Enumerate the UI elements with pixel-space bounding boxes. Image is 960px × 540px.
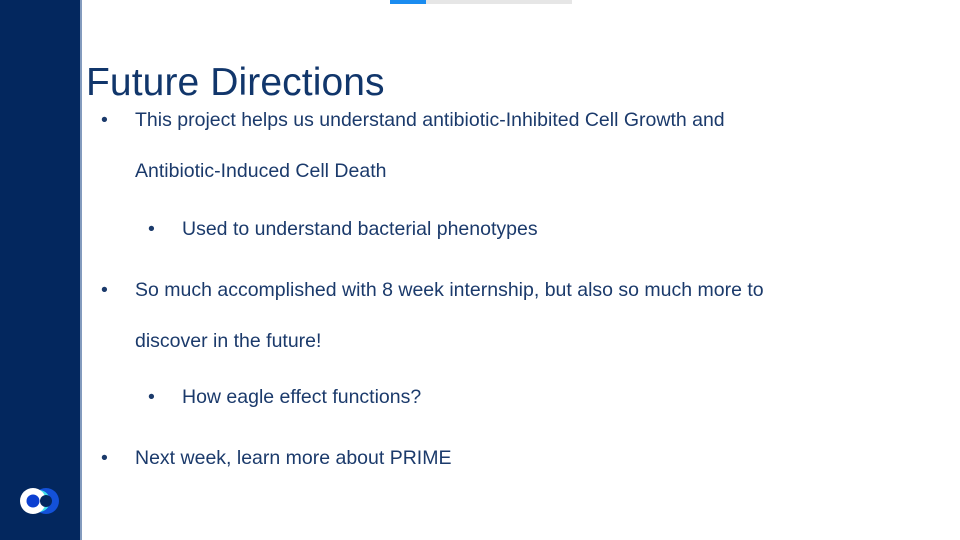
bullet-continuation-text: Antibiotic-Induced Cell Death bbox=[0, 159, 960, 184]
presentation-slide: Future Directions • This project helps u… bbox=[0, 0, 960, 540]
slide-title: Future Directions bbox=[86, 60, 385, 106]
brand-logo-icon bbox=[17, 485, 63, 517]
bullet-item: • Next week, learn more about PRIME bbox=[0, 446, 960, 471]
slide-body-list: • This project helps us understand antib… bbox=[0, 108, 960, 471]
spacer bbox=[0, 133, 960, 159]
spacer bbox=[0, 303, 960, 329]
bullet-text: Next week, learn more about PRIME bbox=[135, 447, 451, 469]
bullet-text: This project helps us understand antibio… bbox=[135, 109, 725, 131]
bullet-text: So much accomplished with 8 week interns… bbox=[135, 279, 764, 301]
bullet-item: • This project helps us understand antib… bbox=[0, 108, 960, 133]
progress-bar-track bbox=[390, 0, 572, 4]
spacer bbox=[0, 184, 960, 217]
bullet-item: • Used to understand bacterial phenotype… bbox=[0, 217, 960, 242]
bullet-marker-icon: • bbox=[101, 446, 108, 471]
spacer bbox=[0, 242, 960, 278]
bullet-marker-icon: • bbox=[148, 217, 155, 242]
bullet-marker-icon: • bbox=[101, 108, 108, 133]
bullet-text: How eagle effect functions? bbox=[182, 386, 421, 408]
bullet-continuation-text: discover in the future! bbox=[0, 329, 960, 354]
bullet-marker-icon: • bbox=[148, 385, 155, 410]
spacer bbox=[0, 354, 960, 385]
spacer bbox=[0, 410, 960, 446]
bullet-item: • So much accomplished with 8 week inter… bbox=[0, 278, 960, 303]
bullet-text: Used to understand bacterial phenotypes bbox=[182, 218, 538, 240]
progress-bar-fill bbox=[390, 0, 426, 4]
bullet-item: • How eagle effect functions? bbox=[0, 385, 960, 410]
bullet-marker-icon: • bbox=[101, 278, 108, 303]
